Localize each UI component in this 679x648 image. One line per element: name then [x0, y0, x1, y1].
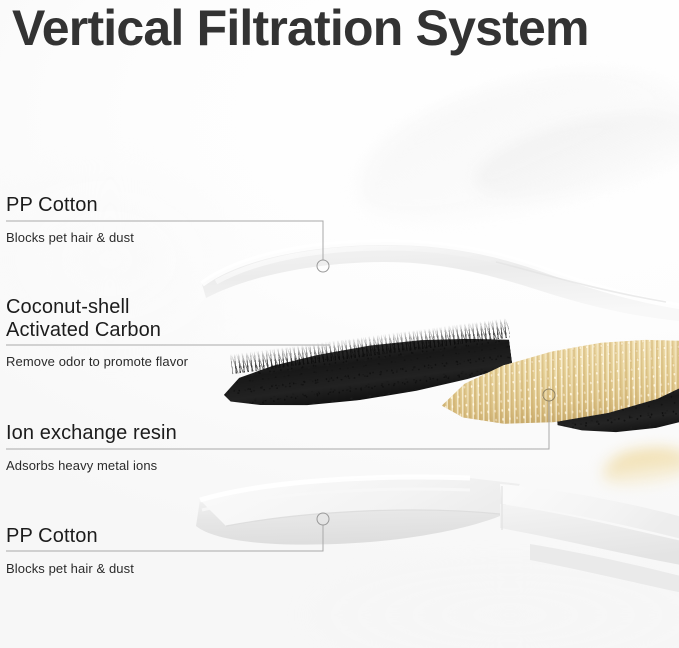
callout-ion-exchange-resin-subtitle: Adsorbs heavy metal ions	[6, 453, 157, 474]
background-haze-bottom	[300, 560, 679, 648]
callout-heading: Ion exchange resin	[6, 422, 177, 445]
callout-heading: PP Cotton	[6, 525, 98, 548]
callout-pp-cotton-top: PP Cotton	[6, 194, 98, 217]
callout-heading-line-1: Coconut-shell	[6, 296, 161, 319]
product-infographic: Vertical Filtration System PP Cotton Blo…	[0, 0, 679, 648]
callout-subtitle: Adsorbs heavy metal ions	[6, 458, 157, 474]
callout-pp-cotton-bottom-subtitle: Blocks pet hair & dust	[6, 556, 134, 577]
callout-activated-carbon-subtitle: Remove odor to promote flavor	[6, 349, 188, 370]
callout-activated-carbon: Coconut-shell Activated Carbon	[6, 296, 161, 342]
callout-heading-line-2: Activated Carbon	[6, 319, 161, 342]
callout-heading: PP Cotton	[6, 194, 98, 217]
filter-housing-blur-top	[347, 51, 679, 234]
callout-subtitle: Blocks pet hair & dust	[6, 561, 134, 577]
callout-pp-cotton-bottom: PP Cotton	[6, 525, 98, 548]
callout-subtitle: Blocks pet hair & dust	[6, 230, 134, 246]
callout-subtitle: Remove odor to promote flavor	[6, 354, 188, 370]
callout-pp-cotton-top-subtitle: Blocks pet hair & dust	[6, 225, 134, 246]
filter-housing-blur-top-secondary	[465, 93, 679, 217]
callout-ion-exchange-resin: Ion exchange resin	[6, 422, 177, 445]
page-title: Vertical Filtration System	[12, 0, 589, 60]
